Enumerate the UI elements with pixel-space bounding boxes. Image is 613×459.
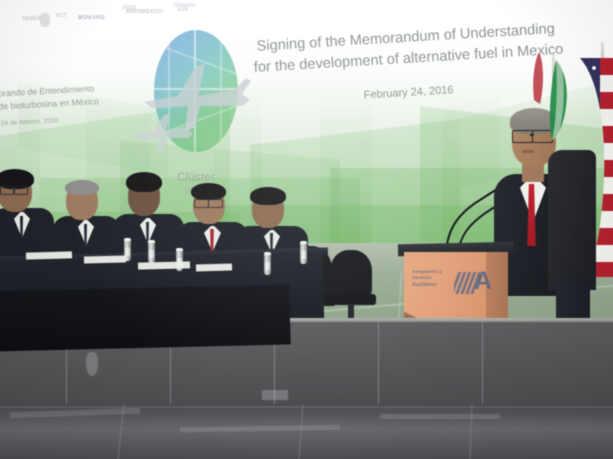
glasses-bridge-icon	[530, 134, 534, 136]
asa-logo-text: Aeropuertos y Servicios Auxiliares	[412, 269, 456, 288]
tile-grout-line	[298, 404, 303, 459]
tile-grout-line	[0, 406, 613, 408]
standing-attendee	[548, 150, 596, 290]
logo-sener-label: SENER	[22, 16, 41, 22]
document-paper	[84, 255, 126, 263]
riser-highlight	[262, 390, 288, 400]
riser-highlight	[86, 352, 98, 376]
logo-boeing-label: BOEING	[78, 15, 105, 21]
asa-org-line3: Auxiliares	[412, 282, 456, 288]
glasses-icon	[14, 186, 28, 195]
water-bottle	[264, 252, 271, 275]
speaker-mouth	[522, 150, 534, 153]
glasses-icon	[208, 199, 223, 208]
logo-partner-label: ASA	[177, 7, 188, 13]
panelist-hair	[191, 183, 226, 200]
document-paper	[138, 261, 190, 269]
asa-logo: Aeropuertos y Servicios Auxiliares A	[412, 267, 498, 301]
logo-partner-mark	[174, 3, 196, 7]
asa-monogram: A	[474, 269, 492, 294]
tile-grout-line	[469, 404, 473, 459]
logo-sct-label: SCT	[56, 13, 67, 19]
glasses-icon	[194, 199, 209, 208]
glasses-icon	[0, 186, 14, 195]
floor-reflection	[380, 414, 500, 419]
panelist-hair	[250, 187, 286, 205]
document-paper	[196, 264, 232, 272]
table-skirt	[0, 284, 291, 351]
floor-reflection	[180, 425, 340, 433]
tile-floor	[0, 404, 613, 459]
glasses-icon	[512, 130, 533, 143]
conference-photo: SENER SCT BOEING AEROMEXICO ASA de Memor…	[0, 0, 613, 459]
panelist-hair	[126, 172, 162, 192]
document-paper	[26, 251, 72, 259]
airplane-icon	[132, 110, 194, 156]
chair-backrest	[330, 250, 372, 298]
logo-aeromexico-mark	[122, 5, 136, 10]
panelist-hair	[65, 180, 99, 195]
water-bottle	[148, 240, 155, 263]
water-bottle	[300, 241, 307, 264]
flag-ribbon	[530, 52, 556, 108]
logo-sct-mark	[40, 13, 50, 27]
